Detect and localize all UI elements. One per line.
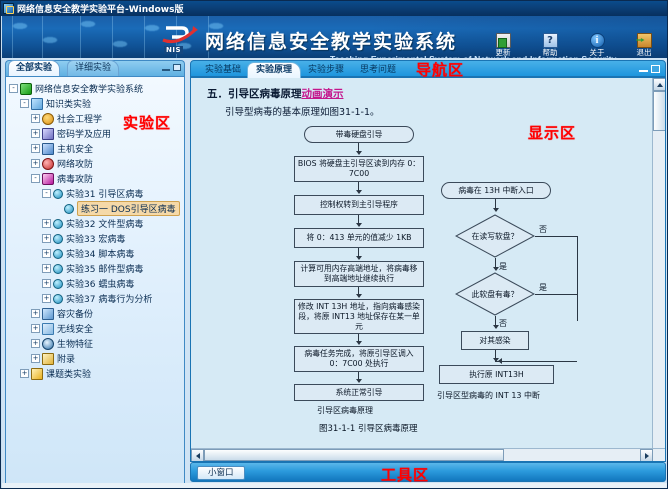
experiment-tree[interactable]: -网络信息安全教学实验系统-知识类实验+社会工程学+密码学及应用+主机安全+网络… bbox=[5, 76, 185, 484]
content-tab-strip: 实验步骤 思考问题 实验基础 实验原理 bbox=[190, 60, 666, 77]
ball-icon bbox=[53, 189, 63, 199]
bottom-toolbar: 小窗口 工具区 bbox=[190, 462, 666, 482]
tree-item-label: 练习一 DOS引导区病毒 bbox=[77, 201, 180, 216]
flow-node-l8: 系统正常引导 bbox=[294, 384, 424, 401]
expand-toggle-icon[interactable]: + bbox=[42, 279, 51, 288]
sidebar-tab-strip: 详细实验 全部实验 bbox=[5, 60, 185, 76]
nis-logo: NIS bbox=[160, 24, 200, 54]
tree-item-label: 实验35 邮件型病毒 bbox=[66, 262, 143, 275]
tree-item-label: 实验33 宏病毒 bbox=[66, 232, 125, 245]
principle-flowchart: 带毒硬盘引导 BIOS 将硬盘主引导区读到内存 0：7C00 控制权转到主引导程… bbox=[199, 122, 654, 432]
tab-experiment-steps[interactable]: 实验步骤 bbox=[299, 62, 353, 78]
tree-item[interactable]: +课题类实验 bbox=[9, 366, 182, 381]
expand-toggle-icon[interactable]: + bbox=[42, 234, 51, 243]
tree-item[interactable]: -病毒攻防 bbox=[9, 171, 182, 186]
tree-item-label: 实验36 蠕虫病毒 bbox=[66, 277, 134, 290]
figure-caption: 图31-1-1 引导区病毒原理 bbox=[319, 422, 417, 434]
flow-label-r2-no: 否 bbox=[539, 224, 547, 235]
flow-arrow-l6-l7 bbox=[356, 341, 362, 345]
tree-item-label: 生物特征 bbox=[57, 337, 93, 350]
document-view: 五．引导区病毒原理动画演示 引导型病毒的基本原理如图31-1-1。 带毒硬盘引导… bbox=[190, 77, 666, 462]
expand-toggle-icon[interactable]: + bbox=[31, 159, 40, 168]
expand-toggle-icon[interactable]: + bbox=[20, 369, 29, 378]
flow-edge-r2-r5-down bbox=[577, 236, 578, 321]
window-title: 网络信息安全教学实验平台-Windows版 bbox=[17, 2, 183, 15]
flow-node-l2: BIOS 将硬盘主引导区读到内存 0：7C00 bbox=[294, 156, 424, 182]
tree-item-label: 网络信息安全教学实验系统 bbox=[35, 82, 143, 95]
about-button[interactable]: i 关于 bbox=[581, 33, 613, 57]
tree-item[interactable]: +密码学及应用 bbox=[9, 126, 182, 141]
logo-text: NIS bbox=[164, 46, 183, 54]
window-title-bar: 网络信息安全教学实验平台-Windows版 bbox=[1, 1, 667, 16]
flow-arrow-join-r5 bbox=[498, 358, 502, 364]
flow-node-r3: 此软盘有毒？ bbox=[455, 272, 535, 316]
section-paragraph: 引导型病毒的基本原理如图31-1-1。 bbox=[225, 104, 644, 118]
expand-toggle-icon[interactable]: + bbox=[42, 264, 51, 273]
flow-node-l5: 计算可用内存高端地址，将病毒移到高端地址继续执行 bbox=[294, 261, 424, 287]
flow-node-r5: 执行原 INT13H bbox=[439, 365, 554, 384]
tree-item[interactable]: +容灾备份 bbox=[9, 306, 182, 321]
workspace: 详细实验 全部实验 -网络信息安全教学实验系统-知识类实验+社会工程学+密码学及… bbox=[2, 58, 668, 489]
small-window-button[interactable]: 小窗口 bbox=[197, 466, 245, 480]
horizontal-scroll-thumb[interactable] bbox=[204, 449, 504, 461]
tree-item[interactable]: -网络信息安全教学实验系统 bbox=[9, 81, 182, 96]
update-label: 更新 bbox=[487, 49, 519, 57]
proj-icon bbox=[31, 368, 43, 380]
update-button[interactable]: 更新 bbox=[487, 33, 519, 57]
tab-experiment-basics[interactable]: 实验基础 bbox=[196, 62, 250, 78]
flow-edge-r3-r5 bbox=[535, 294, 577, 295]
tree-item[interactable]: +无线安全 bbox=[9, 321, 182, 336]
flow-arrow-l4-l5 bbox=[356, 256, 362, 260]
section-heading: 五．引导区病毒原理动画演示 bbox=[207, 86, 644, 101]
net-icon bbox=[42, 158, 54, 170]
expand-toggle-icon[interactable]: + bbox=[31, 309, 40, 318]
update-icon bbox=[496, 33, 511, 48]
application-window: 网络信息安全教学实验平台-Windows版 NIS 网络信息安全教学实验系统 T… bbox=[0, 0, 668, 489]
about-icon: i bbox=[590, 33, 605, 48]
scroll-right-button[interactable] bbox=[640, 449, 653, 462]
tree-item[interactable]: +生物特征 bbox=[9, 336, 182, 351]
flow-node-r4: 对其感染 bbox=[461, 331, 529, 350]
flow-label-r3-yes: 是 bbox=[539, 282, 547, 293]
app-icon bbox=[42, 353, 54, 365]
tree-item-label: 主机安全 bbox=[57, 142, 93, 155]
scroll-up-button[interactable] bbox=[653, 78, 666, 91]
flow-edge-r2-r5 bbox=[535, 236, 577, 237]
root-icon bbox=[20, 83, 32, 95]
flow-node-r1: 病毒在 13H 中断入口 bbox=[441, 182, 551, 199]
tree-item[interactable]: +实验35 邮件型病毒 bbox=[9, 261, 182, 276]
flow-node-l1: 带毒硬盘引导 bbox=[304, 126, 414, 143]
flow-node-l3: 控制权转到主引导程序 bbox=[294, 195, 424, 215]
flow-node-r2: 在读写软盘？ bbox=[455, 214, 535, 258]
flow-node-r3-label: 此软盘有毒？ bbox=[455, 272, 535, 316]
flow-node-l7: 病毒任务完成，将原引导区调入 0：7C00 处执行 bbox=[294, 346, 424, 372]
sidebar-minimize-button[interactable] bbox=[162, 68, 170, 71]
annotation-tool-area: 工具区 bbox=[381, 464, 429, 485]
ball-icon bbox=[53, 234, 63, 244]
expand-toggle-icon[interactable]: + bbox=[31, 144, 40, 153]
help-button[interactable]: ? 帮助 bbox=[534, 33, 566, 57]
expand-toggle-icon[interactable]: + bbox=[42, 249, 51, 258]
tree-item[interactable]: -知识类实验 bbox=[9, 96, 182, 111]
section-heading-text: 五．引导区病毒原理 bbox=[207, 88, 302, 100]
tree-item-label: 附录 bbox=[57, 352, 75, 365]
sidebar-tab-all[interactable]: 全部实验 bbox=[8, 60, 60, 76]
crypt-icon bbox=[42, 128, 54, 140]
flow-label-r3-no: 否 bbox=[499, 318, 507, 329]
help-icon: ? bbox=[543, 33, 558, 48]
tree-item[interactable]: +实验33 宏病毒 bbox=[9, 231, 182, 246]
expand-toggle-icon[interactable]: + bbox=[31, 114, 40, 123]
help-label: 帮助 bbox=[534, 49, 566, 57]
flow-node-r2-label: 在读写软盘？ bbox=[455, 214, 535, 258]
book-icon bbox=[31, 98, 43, 110]
expand-toggle-icon[interactable]: + bbox=[31, 354, 40, 363]
flow-label-r2-yes: 是 bbox=[499, 261, 507, 272]
tree-item-label: 课题类实验 bbox=[46, 367, 91, 380]
flow-node-l6: 修改 INT 13H 地址，指向病毒感染段，将原 INT13 地址保存在某一单元 bbox=[294, 299, 424, 334]
tree-item-label: 容灾备份 bbox=[57, 307, 93, 320]
content-window-buttons bbox=[639, 65, 660, 73]
app-icon bbox=[3, 3, 14, 14]
expand-toggle-icon[interactable]: + bbox=[31, 339, 40, 348]
tree-item-label: 无线安全 bbox=[57, 322, 93, 335]
ball-icon bbox=[53, 279, 63, 289]
host-icon bbox=[42, 143, 54, 155]
expand-toggle-icon[interactable]: + bbox=[42, 294, 51, 303]
status-strip bbox=[2, 483, 668, 488]
tree-item-label: 实验34 脚本病毒 bbox=[66, 247, 134, 260]
content-minimize-button[interactable] bbox=[639, 69, 648, 72]
tree-item[interactable]: +网络攻防 bbox=[9, 156, 182, 171]
tree-item-label: 实验31 引导区病毒 bbox=[66, 187, 143, 200]
ball-icon bbox=[53, 249, 63, 259]
tree-item[interactable]: +社会工程学 bbox=[9, 111, 182, 126]
tree-item[interactable]: +主机安全 bbox=[9, 141, 182, 156]
collapse-toggle-icon[interactable]: - bbox=[42, 189, 51, 198]
collapse-toggle-icon[interactable]: - bbox=[31, 174, 40, 183]
virus-icon bbox=[42, 173, 54, 185]
ball-icon bbox=[64, 204, 74, 214]
vertical-scroll-thumb[interactable] bbox=[653, 91, 666, 131]
left-flow-caption: 引导区病毒原理 bbox=[317, 405, 373, 416]
flow-edge-join-r5 bbox=[495, 361, 577, 362]
tree-item-label: 网络攻防 bbox=[57, 157, 93, 170]
exit-label: 退出 bbox=[628, 49, 660, 57]
ball-icon bbox=[53, 294, 63, 304]
tree-item-label: 病毒攻防 bbox=[57, 172, 93, 185]
sidebar-window-buttons bbox=[162, 64, 181, 71]
tree-item[interactable]: -实验31 引导区病毒 bbox=[9, 186, 182, 201]
expand-toggle-icon[interactable]: + bbox=[31, 324, 40, 333]
flow-arrow-l7-l8 bbox=[356, 379, 362, 383]
tree-item[interactable]: +实验34 脚本病毒 bbox=[9, 246, 182, 261]
tree-item[interactable]: +实验32 文件型病毒 bbox=[9, 216, 182, 231]
tab-questions[interactable]: 思考问题 bbox=[351, 62, 405, 78]
content-panel: 实验步骤 思考问题 实验基础 实验原理 五．引导区病毒原理动画演示 引导型病毒的… bbox=[190, 60, 666, 484]
sidebar-maximize-button[interactable] bbox=[173, 64, 181, 71]
flow-arrow-l1-l2 bbox=[356, 151, 362, 155]
flow-arrow-r1-r2 bbox=[493, 208, 499, 212]
tree-item[interactable]: 练习一 DOS引导区病毒 bbox=[9, 201, 182, 216]
tab-experiment-principle[interactable]: 实验原理 bbox=[247, 62, 301, 78]
collapse-toggle-icon[interactable]: - bbox=[9, 84, 18, 93]
app-banner: NIS 网络信息安全教学实验系统 Teaching Experimental S… bbox=[2, 16, 668, 58]
banner-title: 网络信息安全教学实验系统 bbox=[205, 27, 457, 54]
bio-icon bbox=[42, 338, 54, 350]
document-body: 五．引导区病毒原理动画演示 引导型病毒的基本原理如图31-1-1。 带毒硬盘引导… bbox=[191, 78, 652, 448]
tree-item[interactable]: +实验36 蠕虫病毒 bbox=[9, 276, 182, 291]
flow-arrow-l5-l6 bbox=[356, 294, 362, 298]
ball-icon bbox=[53, 219, 63, 229]
banner-action-icons: 更新 ? 帮助 i 关于 退出 bbox=[487, 33, 660, 57]
content-maximize-button[interactable] bbox=[651, 65, 660, 73]
tree-item-label: 实验32 文件型病毒 bbox=[66, 217, 143, 230]
scroll-left-button[interactable] bbox=[191, 449, 204, 462]
sidebar-tab-detailed[interactable]: 详细实验 bbox=[67, 60, 119, 76]
experiment-tree-panel: 详细实验 全部实验 -网络信息安全教学实验系统-知识类实验+社会工程学+密码学及… bbox=[5, 60, 185, 484]
bak-icon bbox=[42, 308, 54, 320]
document-horizontal-scrollbar[interactable] bbox=[191, 448, 666, 461]
soc-icon bbox=[42, 113, 54, 125]
document-vertical-scrollbar[interactable] bbox=[652, 78, 665, 461]
expand-toggle-icon[interactable]: + bbox=[42, 219, 51, 228]
flow-arrow-l3-l4 bbox=[356, 223, 362, 227]
ball-icon bbox=[53, 264, 63, 274]
flow-arrow-l2-l3 bbox=[356, 190, 362, 194]
tree-item-label: 知识类实验 bbox=[46, 97, 91, 110]
right-flow-caption: 引导区型病毒的 INT 13 中断 bbox=[437, 390, 540, 401]
tree-spacer bbox=[53, 204, 62, 213]
animation-demo-link[interactable]: 动画演示 bbox=[302, 88, 344, 100]
exit-button[interactable]: 退出 bbox=[628, 33, 660, 57]
expand-toggle-icon[interactable]: + bbox=[31, 129, 40, 138]
wifi-icon bbox=[42, 323, 54, 335]
tree-item-label: 社会工程学 bbox=[57, 112, 102, 125]
tree-item[interactable]: +附录 bbox=[9, 351, 182, 366]
exit-icon bbox=[637, 33, 652, 48]
tree-item-label: 密码学及应用 bbox=[57, 127, 111, 140]
tree-item[interactable]: +实验37 病毒行为分析 bbox=[9, 291, 182, 306]
collapse-toggle-icon[interactable]: - bbox=[20, 99, 29, 108]
about-label: 关于 bbox=[581, 49, 613, 57]
flow-node-l4: 将 0：413 单元的值减少 1KB bbox=[294, 228, 424, 248]
tree-item-label: 实验37 病毒行为分析 bbox=[66, 292, 152, 305]
